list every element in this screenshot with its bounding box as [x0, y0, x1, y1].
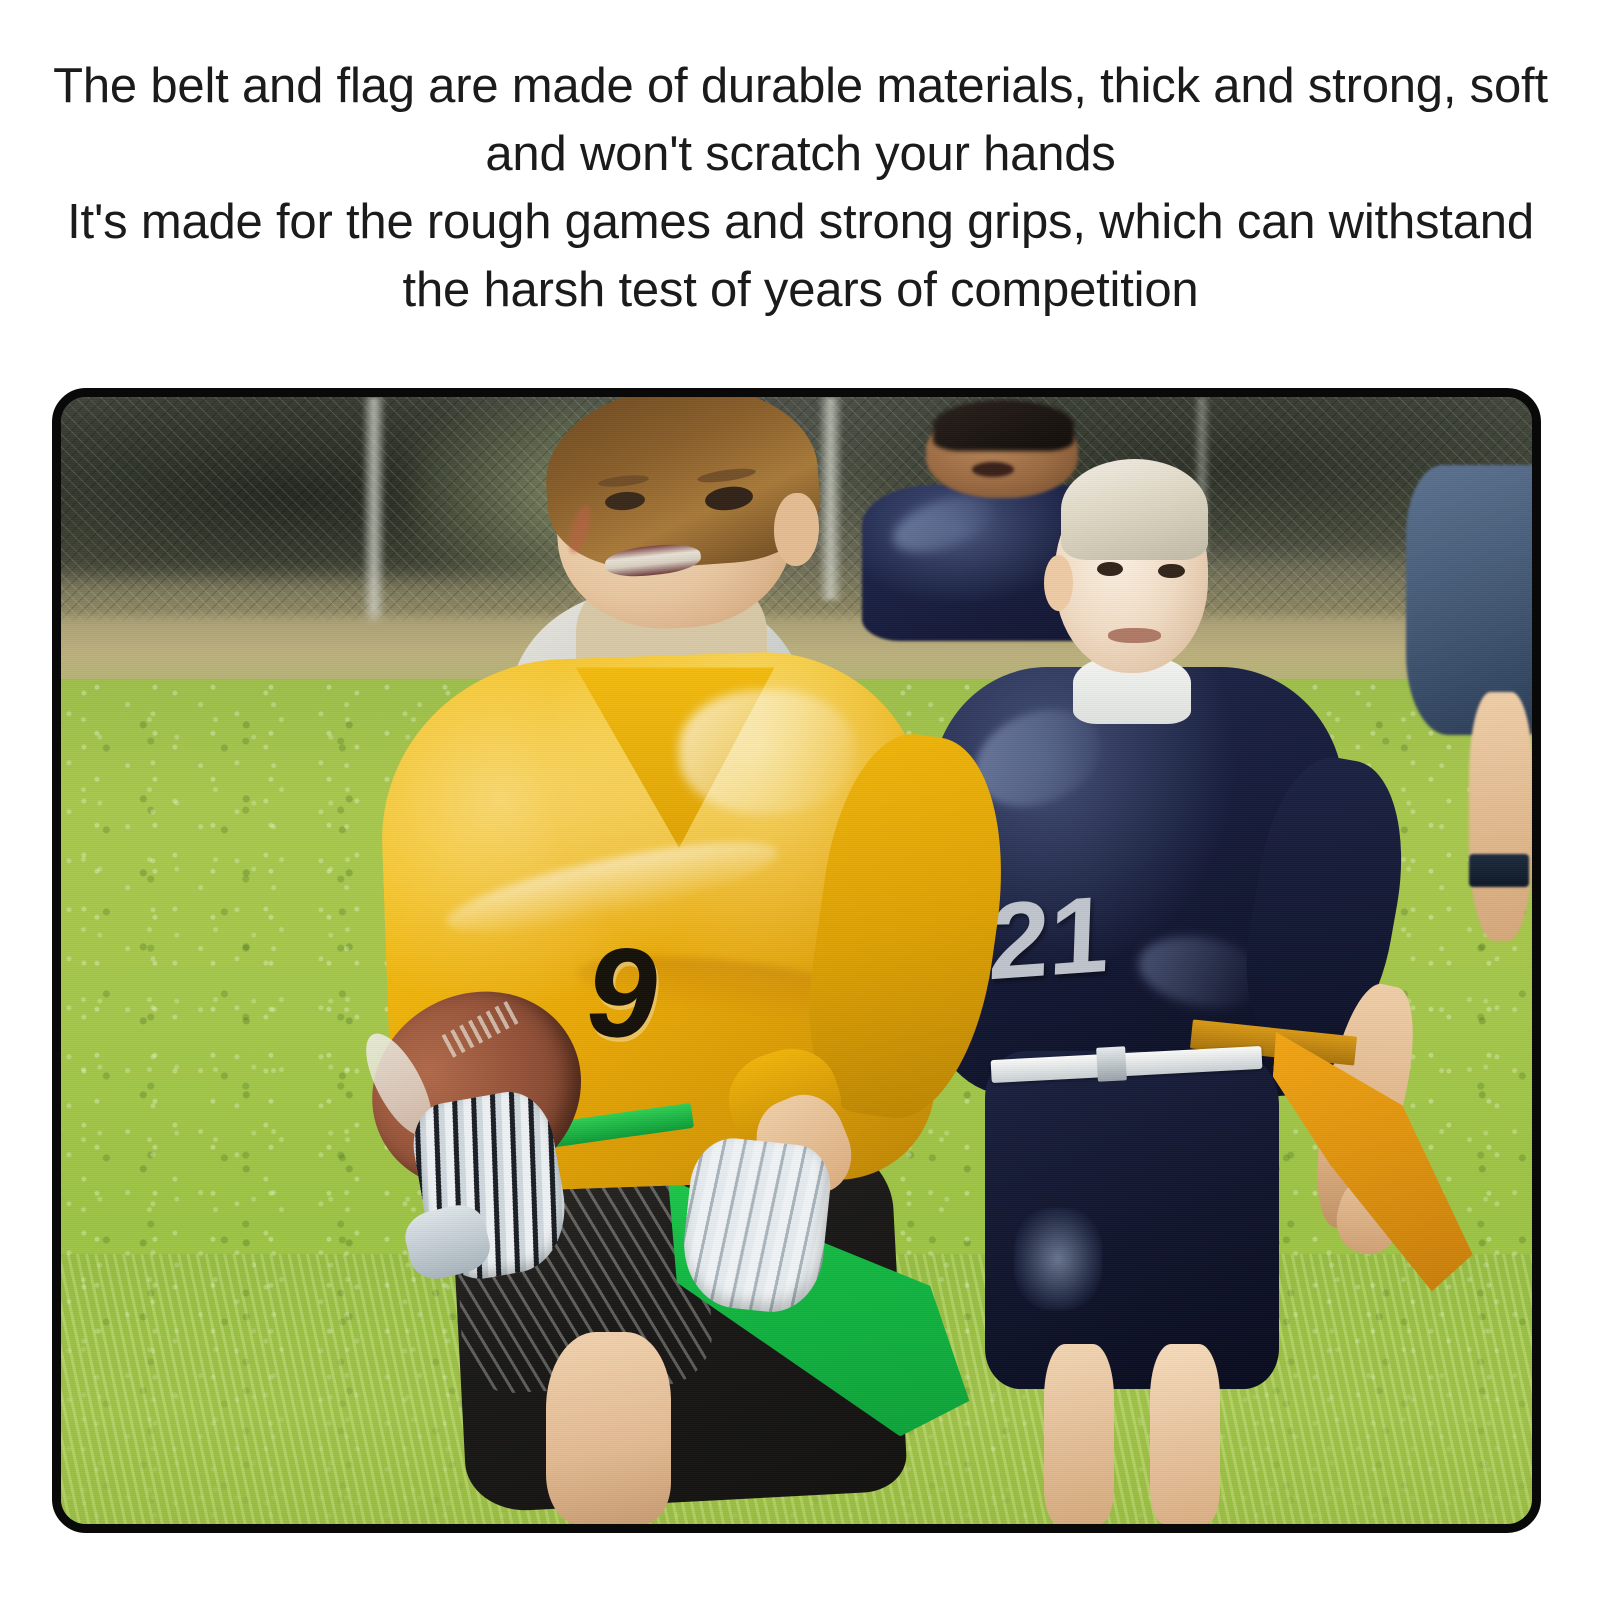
- caption-line-1: The belt and flag are made of durable ma…: [48, 52, 1553, 120]
- defender-belt-buckle: [1096, 1047, 1127, 1082]
- caption-line-4: the harsh test of years of competition: [48, 256, 1553, 324]
- caption-paragraph-1: The belt and flag are made of durable ma…: [48, 52, 1553, 188]
- ball-carrier-shoulder-highlight: [679, 690, 856, 814]
- product-photo-frame: 21: [52, 388, 1541, 1533]
- ball-carrier-thigh: [546, 1332, 671, 1524]
- defender-leg-right: [1150, 1344, 1221, 1524]
- product-description-page: The belt and flag are made of durable ma…: [0, 0, 1601, 1601]
- ball-carrier-glove-right: [678, 1134, 835, 1317]
- caption-paragraph-2: It's made for the rough games and strong…: [48, 188, 1553, 324]
- defender-eye-left: [1097, 562, 1123, 577]
- caption-line-2: and won't scratch your hands: [48, 120, 1553, 188]
- ball-carrier-player: 9: [355, 397, 1091, 1524]
- flag-football-photo: 21: [61, 397, 1532, 1524]
- caption-line-3: It's made for the rough games and strong…: [48, 188, 1553, 256]
- defender-mouth: [1108, 628, 1161, 643]
- ball-carrier-ear: [774, 493, 818, 566]
- caption-block: The belt and flag are made of durable ma…: [0, 52, 1601, 324]
